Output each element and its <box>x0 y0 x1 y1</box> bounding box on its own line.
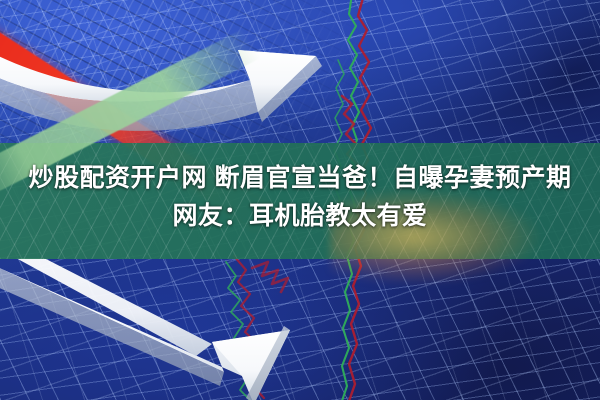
article-thumbnail-image: 炒股配资开户网 断眉官宣当爸！自曝孕妻预产期 网友：耳机胎教太有爱 <box>0 0 600 400</box>
headline-line-2: 网友：耳机胎教太有爱 <box>0 197 600 235</box>
headline: 炒股配资开户网 断眉官宣当爸！自曝孕妻预产期 网友：耳机胎教太有爱 <box>0 159 600 235</box>
headline-line-1: 炒股配资开户网 断眉官宣当爸！自曝孕妻预产期 <box>0 159 600 197</box>
